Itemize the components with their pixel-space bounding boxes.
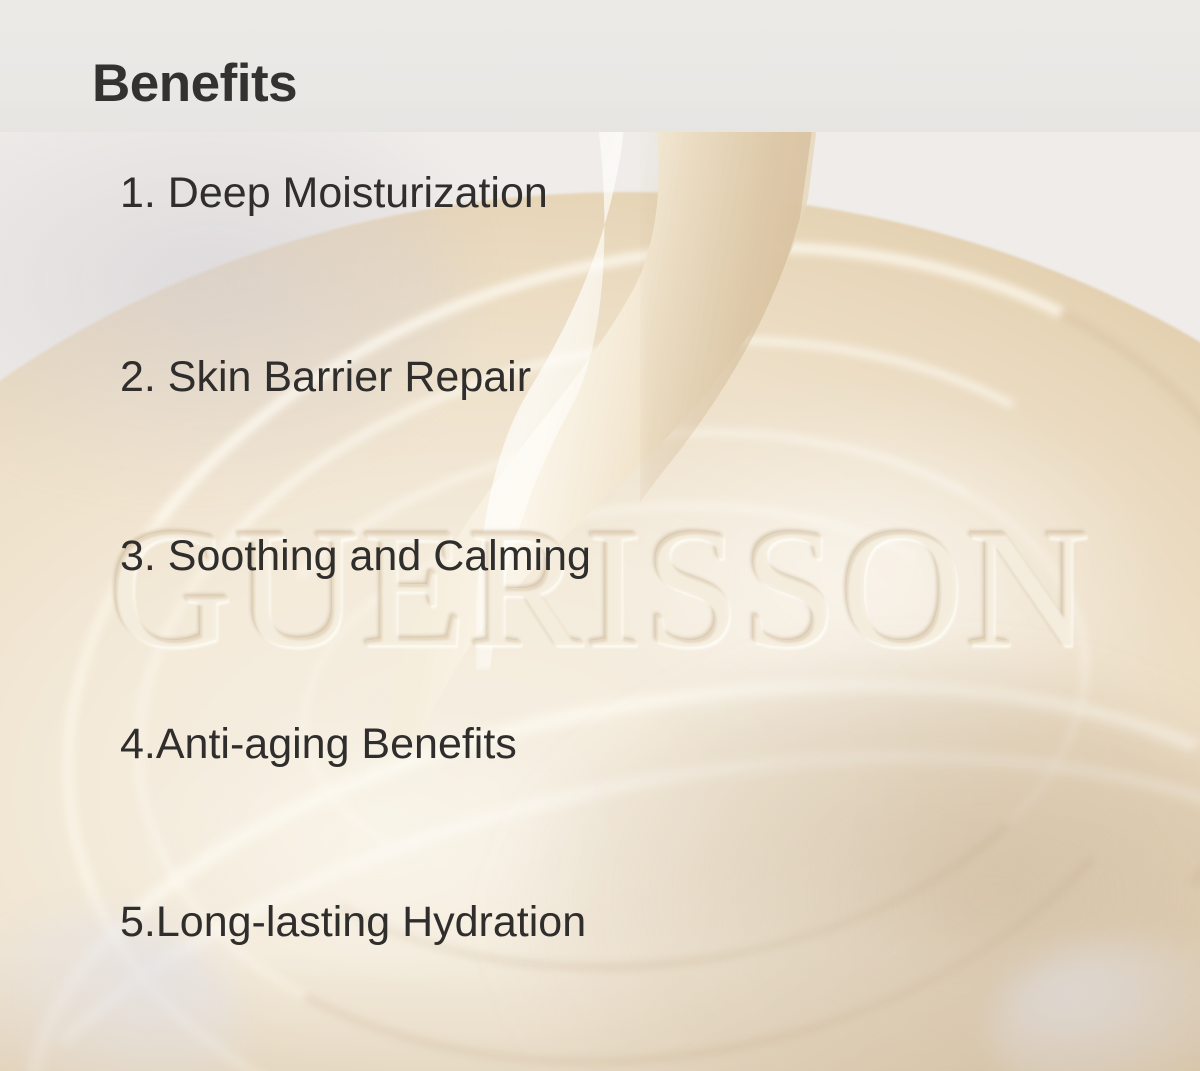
page-title: Benefits [92, 57, 297, 110]
benefit-item-4: 4.Anti-aging Benefits [120, 723, 517, 766]
benefit-item-3: 3. Soothing and Calming [120, 535, 591, 578]
header-band: Benefits [0, 0, 1200, 132]
benefit-item-2: 2. Skin Barrier Repair [120, 356, 531, 399]
benefits-list: 1. Deep Moisturization 2. Skin Barrier R… [0, 132, 1200, 1071]
benefits-poster: GUERISSON 1. Deep Moisturization 2. Skin… [0, 0, 1200, 1071]
benefit-item-5: 5.Long-lasting Hydration [120, 901, 586, 944]
benefit-item-1: 1. Deep Moisturization [120, 172, 548, 215]
